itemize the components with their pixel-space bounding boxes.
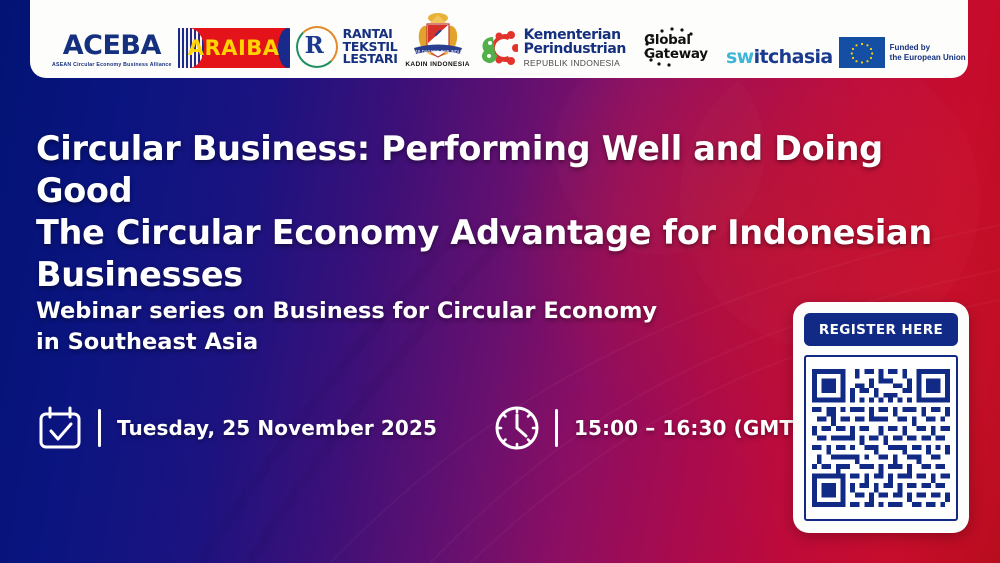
kemenperin-wordmark: Kementerian Perindustrian REPUBLIK INDON…: [524, 28, 626, 68]
global-gateway-wordmark: Global Gateway: [644, 33, 708, 61]
kemenperin-line-3: REPUBLIK INDONESIA: [524, 58, 626, 68]
event-meta-row: Tuesday, 25 November 2025 15:00 – 16:30 …: [36, 404, 833, 452]
event-title-line-2: The Circular Economy Advantage for Indon…: [36, 212, 976, 254]
sponsor-logo-bar: ACEBA ASEAN Circular Economy Business Al…: [30, 0, 968, 78]
eu-funded-line-1: Funded by: [890, 43, 966, 53]
event-subtitle: Webinar series on Business for Circular …: [36, 296, 776, 358]
kemenperin-line-1: Kementerian: [524, 28, 626, 43]
aceba-wordmark: ACEBA: [63, 32, 161, 59]
date-divider: [98, 409, 101, 447]
qr-code[interactable]: [804, 355, 958, 521]
event-subtitle-line-2: in Southeast Asia: [36, 327, 776, 358]
event-title-line-1: Circular Business: Performing Well and D…: [36, 128, 976, 212]
kementerian-perindustrian-logo: Kementerian Perindustrian REPUBLIK INDON…: [478, 28, 626, 68]
svg-text:KAMAR DAGANG DAN INDUSTRI: KAMAR DAGANG DAN INDUSTRI: [406, 50, 470, 55]
event-title: Circular Business: Performing Well and D…: [36, 128, 976, 296]
rtl-wordmark: RANTAI TEKSTIL LESTARI: [343, 28, 398, 66]
calendar-check-icon: [36, 404, 84, 452]
kemenperin-line-2: Perindustrian: [524, 42, 626, 57]
kadin-crest-icon: KAMAR DAGANG DAN INDUSTRI: [404, 12, 472, 60]
rtl-line-3: LESTARI: [343, 53, 398, 66]
event-date-item: Tuesday, 25 November 2025: [36, 404, 437, 452]
aceba-tagline: ASEAN Circular Economy Business Alliance: [52, 62, 172, 68]
switchasia-wordmark: switchasia: [726, 46, 833, 68]
switchasia-part-3: asia: [792, 46, 833, 68]
eu-funded-logo: Funded by the European Union: [839, 37, 966, 68]
event-time-item: 15:00 – 16:30 (GMT+7): [493, 404, 833, 452]
qr-code-image: [812, 363, 950, 513]
kemenperin-gear-icon: [478, 29, 518, 67]
araiba-logo: ARAIBA: [178, 28, 290, 68]
event-subtitle-line-1: Webinar series on Business for Circular …: [36, 296, 776, 327]
kadin-caption: KADIN INDONESIA: [405, 61, 470, 68]
global-gateway-line-2: Gateway: [644, 47, 708, 61]
eu-flag-icon: [839, 37, 885, 68]
eu-funded-line-2: the European Union: [890, 53, 966, 63]
register-here-button[interactable]: REGISTER HERE: [804, 313, 958, 346]
switchasia-part-1: sw: [726, 46, 754, 68]
event-title-line-3: Businesses: [36, 254, 976, 296]
register-card[interactable]: REGISTER HERE: [793, 302, 969, 533]
switchasia-logo: switchasia: [726, 46, 833, 68]
switchasia-part-2: itch: [754, 46, 792, 68]
eu-funded-wordmark: Funded by the European Union: [890, 43, 966, 63]
recycle-ring-icon: R: [296, 26, 338, 68]
araiba-wordmark: ARAIBA: [188, 36, 280, 60]
aceba-logo: ACEBA ASEAN Circular Economy Business Al…: [52, 32, 172, 68]
webinar-banner: ACEBA ASEAN Circular Economy Business Al…: [0, 0, 1000, 563]
rantai-tekstil-lestari-logo: R RANTAI TEKSTIL LESTARI: [296, 26, 398, 68]
global-gateway-logo: Global Gateway: [632, 26, 720, 68]
event-date-value: Tuesday, 25 November 2025: [117, 416, 437, 440]
global-gateway-line-1: Global: [644, 33, 708, 47]
time-divider: [555, 409, 558, 447]
clock-icon: [493, 404, 541, 452]
kadin-indonesia-logo: KAMAR DAGANG DAN INDUSTRI KADIN INDONESI…: [404, 12, 472, 68]
